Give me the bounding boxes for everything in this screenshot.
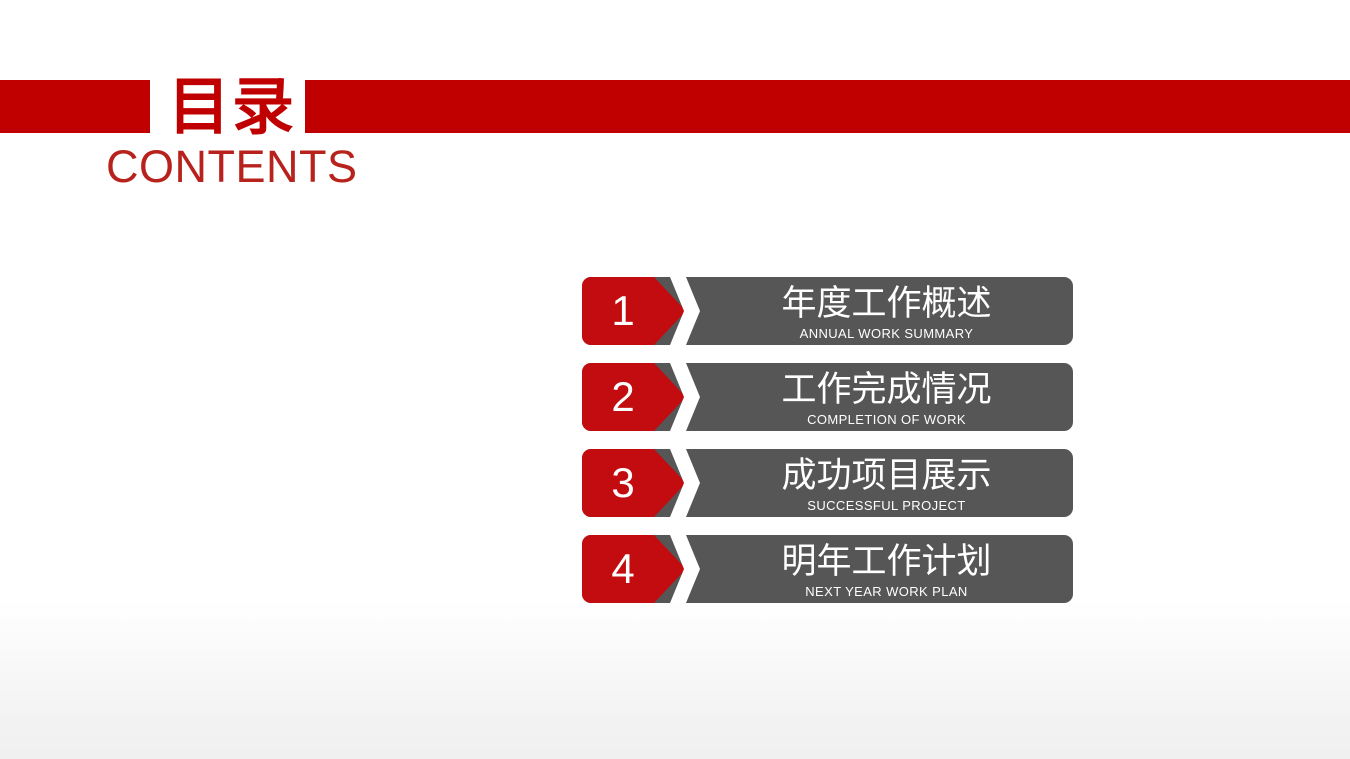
list-item-text: 工作完成情况 COMPLETION OF WORK [700,363,1073,431]
presentation-slide: 目录 CONTENTS 1 年度工作概述 ANNUAL WORK SUMMARY… [0,0,1350,759]
header-banner-right [305,80,1350,133]
list-item[interactable]: 4 明年工作计划 NEXT YEAR WORK PLAN [582,535,1073,603]
list-item-subtitle: NEXT YEAR WORK PLAN [700,584,1073,600]
list-item-text: 年度工作概述 ANNUAL WORK SUMMARY [700,277,1073,345]
contents-list: 1 年度工作概述 ANNUAL WORK SUMMARY 2 工作完成情况 CO… [582,277,1073,621]
list-item[interactable]: 2 工作完成情况 COMPLETION OF WORK [582,363,1073,431]
list-item-title: 年度工作概述 [700,277,1073,326]
list-item-subtitle: ANNUAL WORK SUMMARY [700,326,1073,342]
list-item-title: 明年工作计划 [700,535,1073,584]
bottom-gradient-decoration [0,599,1350,759]
list-item-title: 成功项目展示 [700,449,1073,498]
list-item-number: 3 [582,449,664,517]
list-item[interactable]: 3 成功项目展示 SUCCESSFUL PROJECT [582,449,1073,517]
header-banner-left [0,80,150,133]
list-item-number: 1 [582,277,664,345]
list-item-title: 工作完成情况 [700,363,1073,412]
page-title: 目录 [168,72,296,142]
list-item-text: 明年工作计划 NEXT YEAR WORK PLAN [700,535,1073,603]
page-subtitle: CONTENTS [106,141,358,193]
list-item-subtitle: SUCCESSFUL PROJECT [700,498,1073,514]
list-item-number: 2 [582,363,664,431]
list-item-subtitle: COMPLETION OF WORK [700,412,1073,428]
list-item[interactable]: 1 年度工作概述 ANNUAL WORK SUMMARY [582,277,1073,345]
list-item-text: 成功项目展示 SUCCESSFUL PROJECT [700,449,1073,517]
list-item-number: 4 [582,535,664,603]
